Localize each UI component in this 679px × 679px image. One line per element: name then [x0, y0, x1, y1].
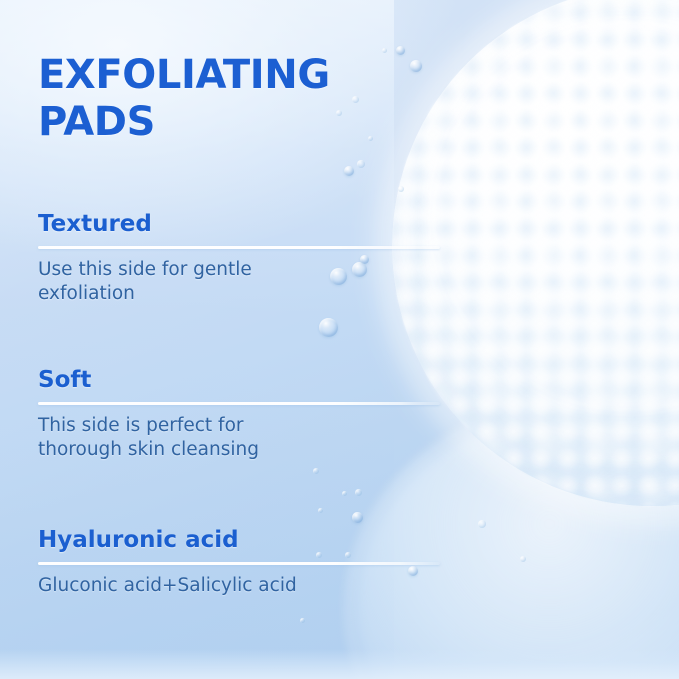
feature-description: This side is perfect for thorough skin c…	[38, 414, 442, 461]
feature-title: Textured	[38, 212, 442, 237]
water-droplet	[520, 556, 526, 562]
feature-description: Use this side for gentle exfoliation	[38, 258, 442, 305]
feature-block-textured: Textured Use this side for gentle exfoli…	[38, 212, 442, 305]
feature-divider	[38, 562, 440, 565]
text-content: EXFOLIATING PADS Textured Use this side …	[38, 0, 468, 679]
feature-title: Soft	[38, 368, 442, 393]
feature-description: Gluconic acid+Salicylic acid	[38, 574, 442, 597]
feature-block-hyaluronic-acid: Hyaluronic acid Gluconic acid+Salicylic …	[38, 528, 442, 598]
feature-title: Hyaluronic acid	[38, 528, 442, 553]
water-droplet	[478, 520, 486, 528]
product-feature-image: EXFOLIATING PADS Textured Use this side …	[0, 0, 679, 679]
feature-divider	[38, 246, 440, 249]
page-title: EXFOLIATING PADS	[38, 52, 330, 146]
feature-block-soft: Soft This side is perfect for thorough s…	[38, 368, 442, 461]
feature-divider	[38, 402, 440, 405]
